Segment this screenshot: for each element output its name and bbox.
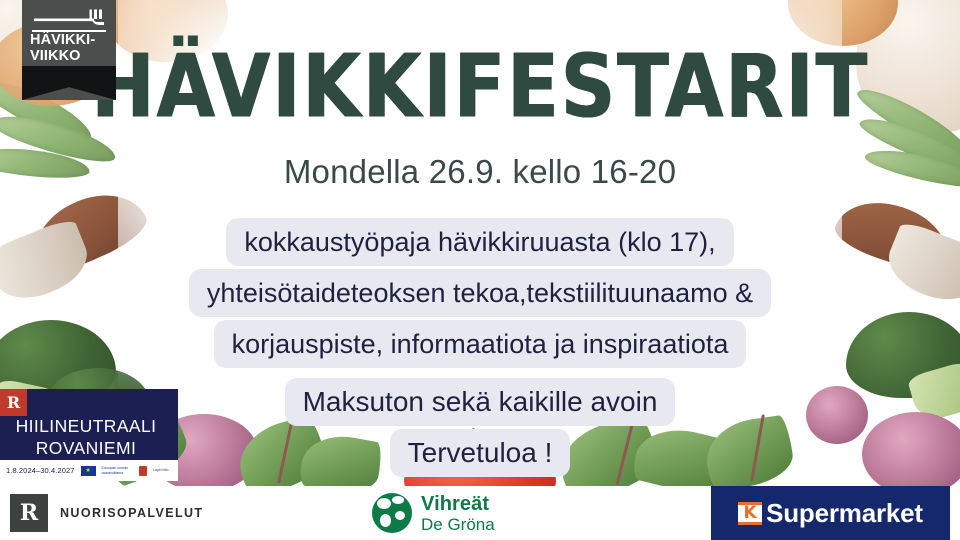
carbon-badge-title-line1: HIILINEUTRAALI xyxy=(0,415,172,437)
globe-icon xyxy=(372,493,412,533)
eu-funding-caption: Euroopan unionin osarahoittama xyxy=(102,466,134,474)
carbon-badge-title: HIILINEUTRAALI ROVANIEMI xyxy=(0,415,172,459)
lapin-liitto-caption: Lapin liitto xyxy=(153,468,172,472)
carbon-badge-date-range: 1.8.2024–30.4.2027 xyxy=(6,466,75,475)
carbon-badge-footer: 1.8.2024–30.4.2027 Euroopan unionin osar… xyxy=(0,460,178,481)
nuorisopalvelut-logo: R NUORISOPALVELUT xyxy=(10,494,203,532)
ksupermarket-logo: K Supermarket xyxy=(711,486,950,540)
k-letter-icon: K xyxy=(738,502,762,525)
subtitle: Mondella 26.9. kello 16-20 xyxy=(0,152,960,192)
vihreat-label-sv: De Gröna xyxy=(421,516,495,533)
hiilineutraali-rovaniemi-badge: R HIILINEUTRAALI ROVANIEMI 1.8.2024–30.4… xyxy=(0,389,178,481)
badge-label: HÄVIKKI- VIIKKO xyxy=(30,33,108,64)
partner-footer-bar: R NUORISOPALVELUT Vihreät De Gröna K Sup… xyxy=(0,486,960,540)
ksupermarket-label: Supermarket xyxy=(766,498,923,529)
vihreat-label-fi: Vihreät xyxy=(421,494,495,514)
program-text-block: kokkaustyöpaja hävikkiruuasta (klo 17), … xyxy=(0,218,960,368)
badge-label-line2: VIIKKO xyxy=(30,49,108,65)
nuorisopalvelut-monogram-icon: R xyxy=(10,494,48,532)
welcome-line: Tervetuloa ! xyxy=(390,429,571,477)
welcome-line: Maksuton sekä kaikille avoin xyxy=(285,378,676,426)
page-title: HÄVIKKIFESTARIT xyxy=(0,42,960,118)
poster-canvas: HÄVIKKI- VIIKKO HÄVIKKIFESTARIT Mondella… xyxy=(0,0,960,540)
rovaniemi-monogram-icon: R xyxy=(0,389,27,416)
program-line: korjauspiste, informaatiota ja inspiraat… xyxy=(214,320,747,368)
program-line: kokkaustyöpaja hävikkiruuasta (klo 17), xyxy=(226,218,733,266)
badge-label-line1: HÄVIKKI- xyxy=(30,33,108,49)
headline-text: HÄVIKKIFESTARIT xyxy=(91,42,869,132)
k-letter: K xyxy=(744,505,757,522)
program-line: yhteisötaideteoksen tekoa,tekstiilituuna… xyxy=(189,269,771,317)
nuorisopalvelut-label: NUORISOPALVELUT xyxy=(60,506,203,520)
vihreat-wordmark: Vihreät De Gröna xyxy=(421,494,495,533)
eu-flag-icon xyxy=(81,466,96,476)
lapin-liitto-crest-icon xyxy=(139,466,147,476)
fork-icon xyxy=(34,9,104,31)
carbon-badge-title-line2: ROVANIEMI xyxy=(0,437,172,459)
vihreat-logo: Vihreät De Gröna xyxy=(372,493,495,533)
havikkiviikko-logo-badge: HÄVIKKI- VIIKKO xyxy=(22,0,116,100)
